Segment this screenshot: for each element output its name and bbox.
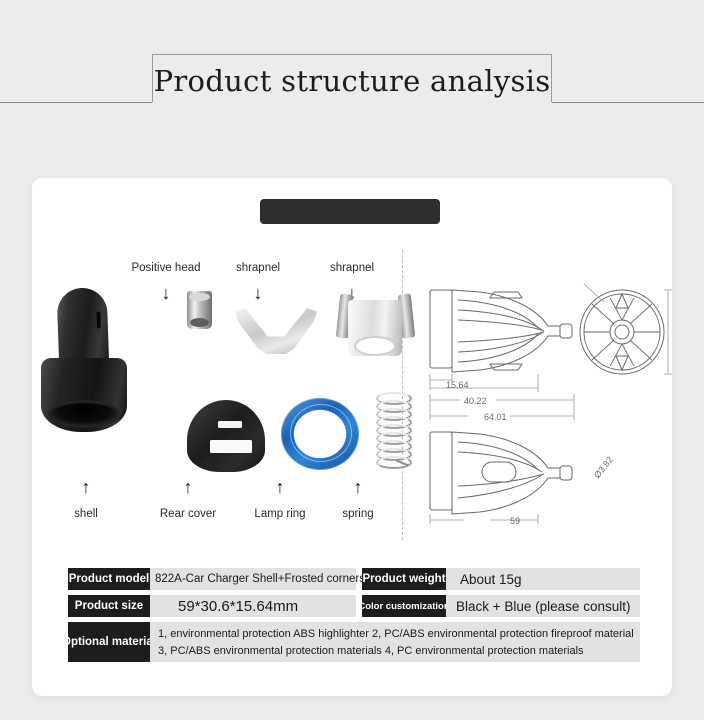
page-title: Product structure analysis bbox=[154, 64, 551, 98]
spec-table: Product model 822A-Car Charger Shell+Fro… bbox=[68, 568, 640, 667]
spec-row-model-weight: Product model 822A-Car Charger Shell+Fro… bbox=[68, 568, 640, 590]
spec-value-product-size: 59*30.6*15.64mm bbox=[150, 595, 356, 617]
optional-material-line-2: 3, PC/ABS environmental protection mater… bbox=[158, 643, 640, 660]
spec-row-optional-material: Optional material 1, environmental prote… bbox=[68, 622, 640, 662]
bottom-view-drawing bbox=[418, 416, 618, 526]
arrow-shrapnel-1: ↓ bbox=[250, 284, 266, 302]
title-rule-right bbox=[552, 102, 704, 103]
label-positive-head: Positive head bbox=[118, 262, 214, 274]
shrapnel-1-photo bbox=[235, 308, 317, 354]
spring-photo bbox=[372, 392, 412, 474]
spec-label-product-size: Product size bbox=[68, 595, 150, 617]
optional-material-line-1: 1, environmental protection ABS highligh… bbox=[158, 626, 640, 643]
spec-label-product-model: Product model bbox=[68, 568, 150, 590]
spec-value-color-customization: Black + Blue (please consult) bbox=[446, 595, 640, 617]
label-shrapnel-1: shrapnel bbox=[220, 262, 296, 274]
arrow-spring: ↑ bbox=[350, 478, 366, 496]
arrow-shell: ↑ bbox=[78, 478, 94, 496]
end-view-drawing bbox=[572, 274, 672, 384]
label-shell: shell bbox=[54, 508, 118, 520]
spec-value-product-model: 822A-Car Charger Shell+Frosted corners bbox=[150, 568, 356, 590]
page-header: Product structure analysis bbox=[0, 40, 704, 118]
title-frame: Product structure analysis bbox=[152, 54, 552, 102]
spec-label-product-weight: Product weight bbox=[362, 568, 446, 590]
spec-label-color-customization: Color customization bbox=[362, 595, 446, 617]
shell-photo-mouth bbox=[48, 400, 120, 428]
dim-59: 59 bbox=[510, 516, 520, 526]
arrow-rear-cover: ↑ bbox=[180, 478, 196, 496]
dim-15-64: 15.64 bbox=[446, 380, 469, 390]
rear-cover-slot-bottom bbox=[210, 440, 252, 453]
lamp-ring-photo bbox=[281, 398, 359, 470]
label-rear-cover: Rear cover bbox=[150, 508, 226, 520]
arrow-lamp-ring: ↑ bbox=[272, 478, 288, 496]
label-lamp-ring: Lamp ring bbox=[242, 508, 318, 520]
rear-cover-photo bbox=[187, 400, 265, 472]
product-card: Positive head ↓ shrapnel ↓ shrapnel ↓ ↑ … bbox=[32, 178, 672, 696]
label-shrapnel-2: shrapnel bbox=[310, 262, 394, 274]
positive-head-photo bbox=[187, 291, 212, 329]
spec-row-size-color: Product size 59*30.6*15.64mm Color custo… bbox=[68, 595, 640, 617]
label-spring: spring bbox=[326, 508, 390, 520]
spec-value-product-weight: About 15g bbox=[446, 568, 640, 590]
title-rule-left bbox=[0, 102, 152, 103]
decorative-top-bar bbox=[260, 199, 440, 224]
spec-value-optional-material: 1, environmental protection ABS highligh… bbox=[150, 622, 640, 662]
shrapnel-2-ring bbox=[354, 336, 396, 356]
rear-cover-slot-top bbox=[218, 421, 242, 428]
spec-label-optional-material: Optional material bbox=[68, 622, 150, 662]
arrow-positive-head: ↓ bbox=[158, 284, 174, 302]
